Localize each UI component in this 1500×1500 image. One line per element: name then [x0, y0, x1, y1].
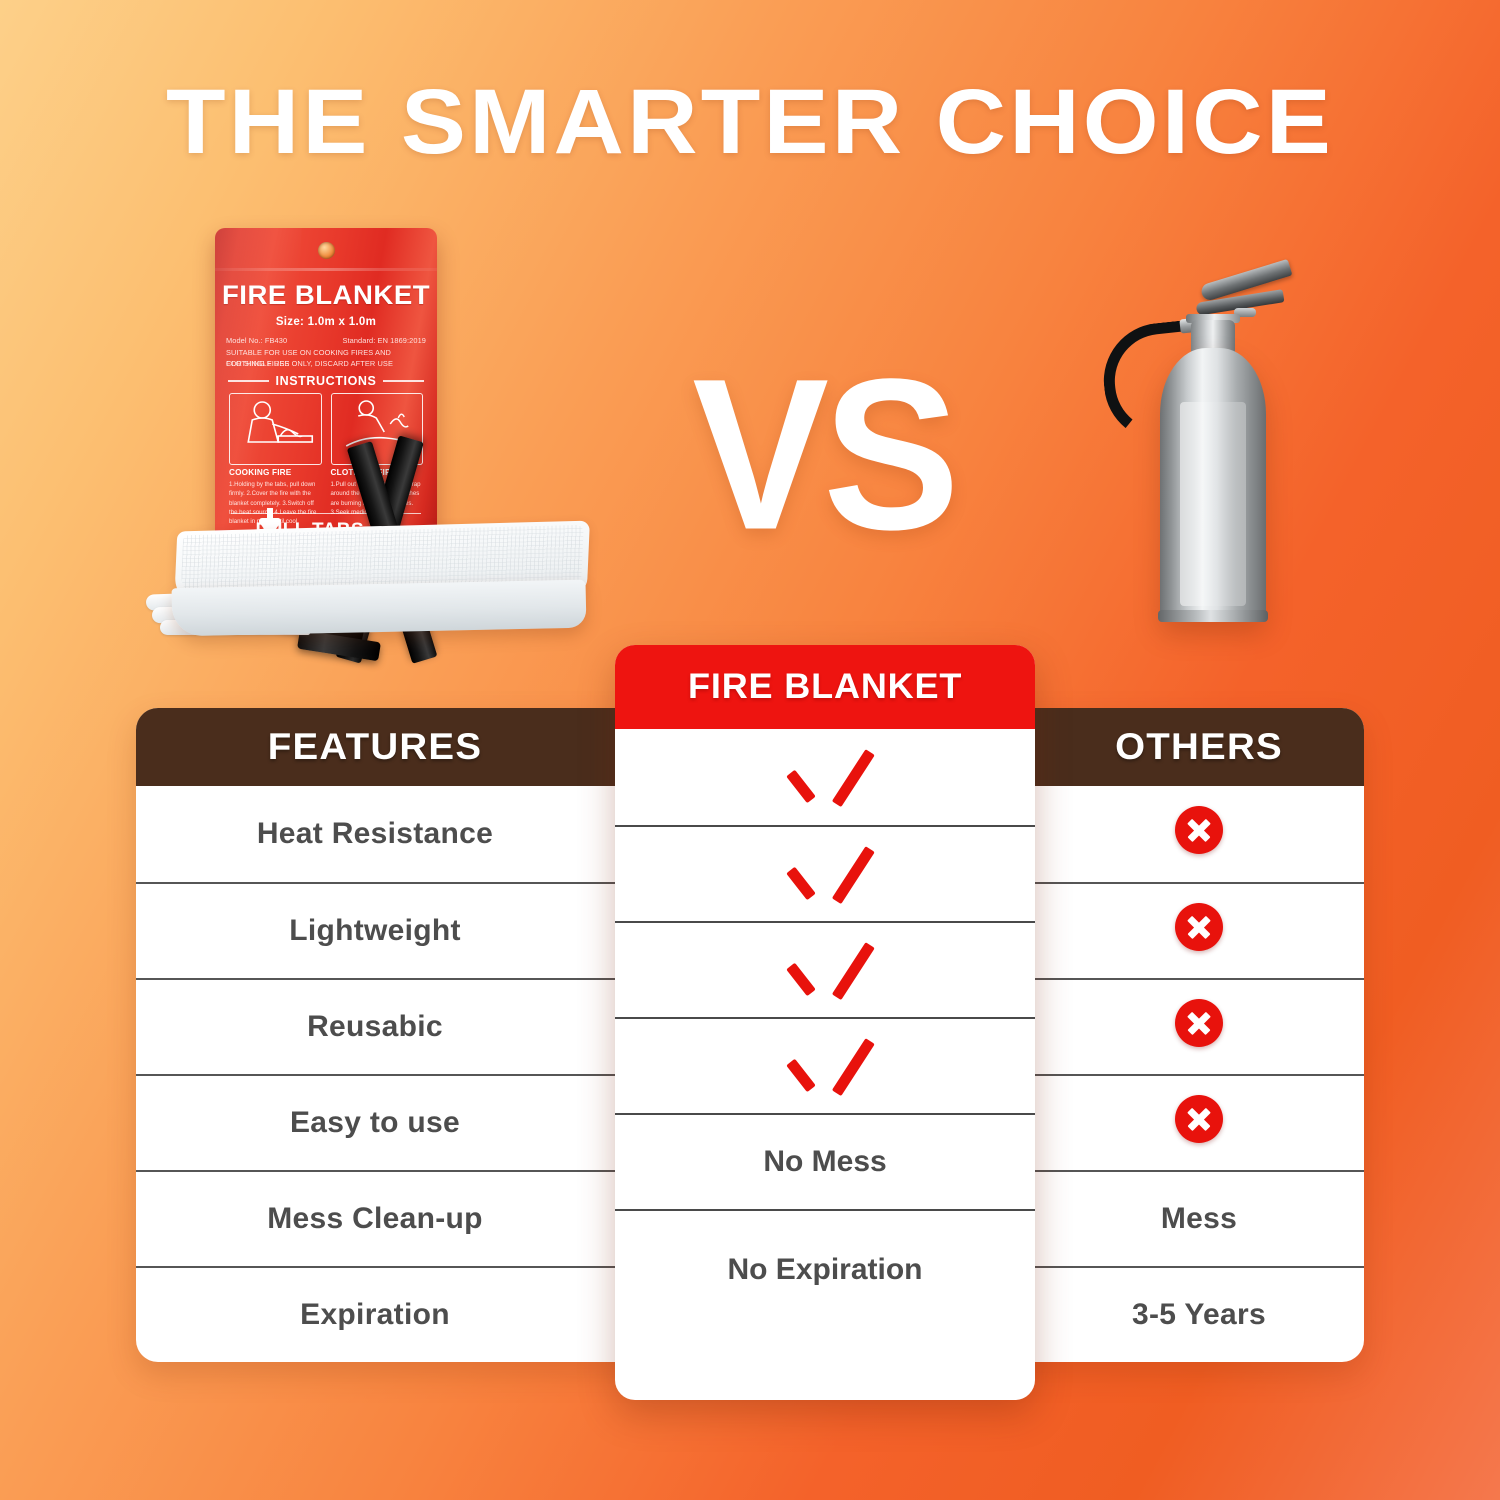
cross-icon	[1175, 1095, 1223, 1143]
check-icon	[788, 1039, 862, 1093]
others-cell	[1034, 903, 1364, 959]
highlight-row	[615, 825, 1035, 921]
highlight-row	[615, 1017, 1035, 1113]
cooking-fire-svg	[230, 394, 321, 464]
cross-icon	[1175, 999, 1223, 1047]
check-icon	[788, 847, 862, 901]
column-header-features: FEATURES	[136, 726, 624, 768]
others-cell: 3-5 Years	[1034, 1298, 1364, 1332]
comparison-infographic: THE SMARTER CHOICE VS FIRE BLANKET Size:…	[0, 0, 1500, 1500]
highlight-row	[615, 921, 1035, 1017]
check-icon	[788, 750, 862, 804]
rule-right	[383, 380, 424, 381]
instructions-label: INSTRUCTIONS	[276, 374, 377, 388]
cross-icon	[1175, 806, 1223, 854]
fire-blanket-highlight-column: FIRE BLANKET No MessNo Expiration	[615, 645, 1035, 1400]
pouch-seam	[215, 268, 437, 271]
feature-label: Easy to use	[136, 1106, 614, 1140]
column-header-others: OTHERS	[1027, 726, 1364, 768]
cooking-fire-figure-icon	[229, 393, 322, 465]
highlight-row	[615, 729, 1035, 825]
hang-hole-icon	[318, 242, 335, 259]
pouch-standard: Standard: EN 1869:2019	[342, 336, 426, 347]
pouch-size: Size: 1.0m x 1.0m	[215, 316, 437, 328]
feature-label: Heat Resistance	[136, 817, 614, 851]
check-icon	[788, 943, 862, 997]
highlight-row: No Mess	[615, 1113, 1035, 1209]
page-title: THE SMARTER CHOICE	[0, 76, 1500, 168]
others-cell	[1034, 999, 1364, 1055]
pouch-single-use: FOR SINGLE USE ONLY, DISCARD AFTER USE	[226, 359, 426, 370]
pouch-model: Model No.: FB430	[226, 336, 287, 347]
others-cell	[1034, 806, 1364, 862]
instructions-bar: INSTRUCTIONS	[228, 374, 424, 388]
extinguisher-base	[1158, 610, 1268, 622]
cross-icon	[1175, 903, 1223, 951]
folded-fire-blanket	[138, 526, 588, 658]
blanket-front-edge	[172, 580, 587, 637]
pouch-meta-row: Model No.: FB430 Standard: EN 1869:2019	[226, 336, 426, 347]
highlight-column-body: No MessNo Expiration	[615, 729, 1035, 1329]
rule-left	[228, 380, 269, 381]
others-cell	[1034, 1095, 1364, 1151]
extinguisher-cylinder	[1160, 348, 1266, 620]
highlight-row: No Expiration	[615, 1209, 1035, 1329]
fire-blanket-product-image: FIRE BLANKET Size: 1.0m x 1.0m Model No.…	[130, 228, 600, 668]
caption-cooking-fire: COOKING FIRE	[229, 468, 322, 477]
pouch-title: FIRE BLANKET	[215, 280, 437, 311]
vs-label: VS	[648, 347, 998, 562]
highlight-column-header: FIRE BLANKET	[615, 645, 1035, 729]
fire-extinguisher-product-image	[1088, 262, 1338, 652]
highlight-column-label: FIRE BLANKET	[688, 667, 962, 707]
feature-label: Mess Clean-up	[136, 1202, 614, 1236]
feature-label: Expiration	[136, 1298, 614, 1332]
others-cell: Mess	[1034, 1202, 1364, 1236]
feature-label: Lightweight	[136, 914, 614, 948]
feature-label: Reusabic	[136, 1010, 614, 1044]
